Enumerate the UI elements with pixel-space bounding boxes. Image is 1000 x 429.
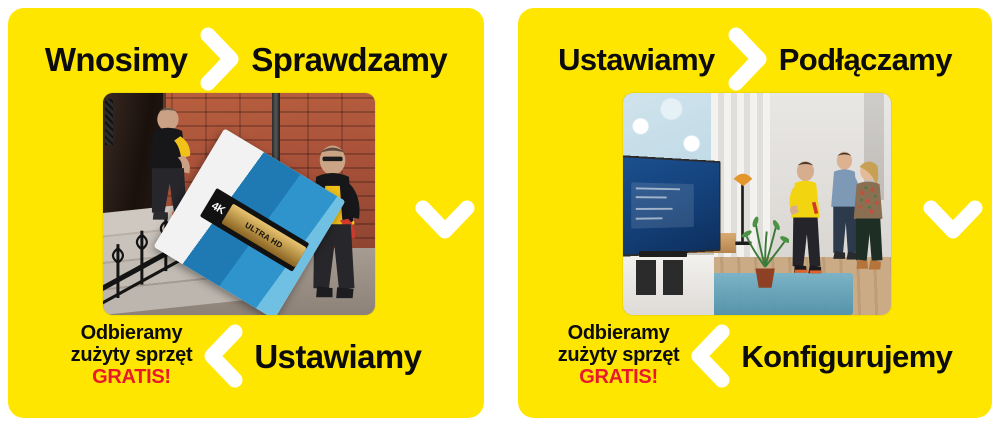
chevron-left-icon: [685, 323, 737, 389]
recycling-note-right: Odbieramy zużyty sprzęt GRATIS!: [558, 323, 682, 389]
recycle-line-1: Odbieramy: [568, 322, 670, 344]
top-step-row-right: Ustawiamy Podłączamy: [518, 28, 992, 90]
customer-woman: [848, 142, 888, 293]
recycling-note-left: Odbieramy zużyty sprzęt GRATIS!: [71, 323, 195, 389]
step-label-konfigurujemy: Konfigurujemy: [741, 341, 952, 372]
step-label-wnosimy: Wnosimy: [45, 43, 187, 76]
step-panel-left: Wnosimy Sprawdzamy: [8, 8, 484, 418]
step-label-sprawdzamy: Sprawdzamy: [251, 43, 447, 76]
step-label-podlaczamy: Podłączamy: [779, 44, 952, 75]
top-step-row-left: Wnosimy Sprawdzamy: [8, 28, 484, 90]
recycle-free-badge: GRATIS!: [71, 367, 193, 389]
service-steps-infographic: Wnosimy Sprawdzamy: [0, 0, 1000, 429]
chevron-down-wrap-left: [414, 198, 476, 244]
shelf-unit: [623, 253, 714, 315]
tv-label-4k: 4K: [205, 197, 227, 217]
step-label-ustawiamy: Ustawiamy: [254, 340, 421, 373]
installer-person: [784, 142, 827, 297]
recycle-free-badge: GRATIS!: [558, 367, 680, 389]
bottom-step-row-right: Odbieramy zużyty sprzęt GRATIS! Konfigur…: [518, 308, 992, 404]
door-grill: [105, 99, 113, 146]
photo-installer-living-room: [623, 93, 891, 315]
bottom-step-row-left: Odbieramy zużyty sprzęt GRATIS! Ustawiam…: [8, 308, 484, 404]
recycle-line-2: zużyty sprzęt: [71, 344, 193, 366]
recycle-line-2: zużyty sprzęt: [558, 344, 680, 366]
recycle-line-1: Odbieramy: [81, 322, 183, 344]
tv-stand: [639, 251, 687, 258]
step-panel-right: Ustawiamy Podłączamy: [518, 8, 992, 418]
step-label-ustawiamy-top: Ustawiamy: [558, 44, 715, 75]
chevron-right-icon: [193, 26, 245, 92]
chevron-down-icon: [414, 198, 476, 244]
potted-plant: [741, 204, 789, 293]
chevron-right-icon: [721, 26, 773, 92]
chevron-left-icon: [198, 323, 250, 389]
photo-delivery-carrying-tv: 4K ULTRA HD: [103, 93, 375, 315]
chevron-down-wrap-right: [922, 198, 984, 244]
chevron-down-icon: [922, 198, 984, 244]
television-screen: [623, 155, 720, 257]
